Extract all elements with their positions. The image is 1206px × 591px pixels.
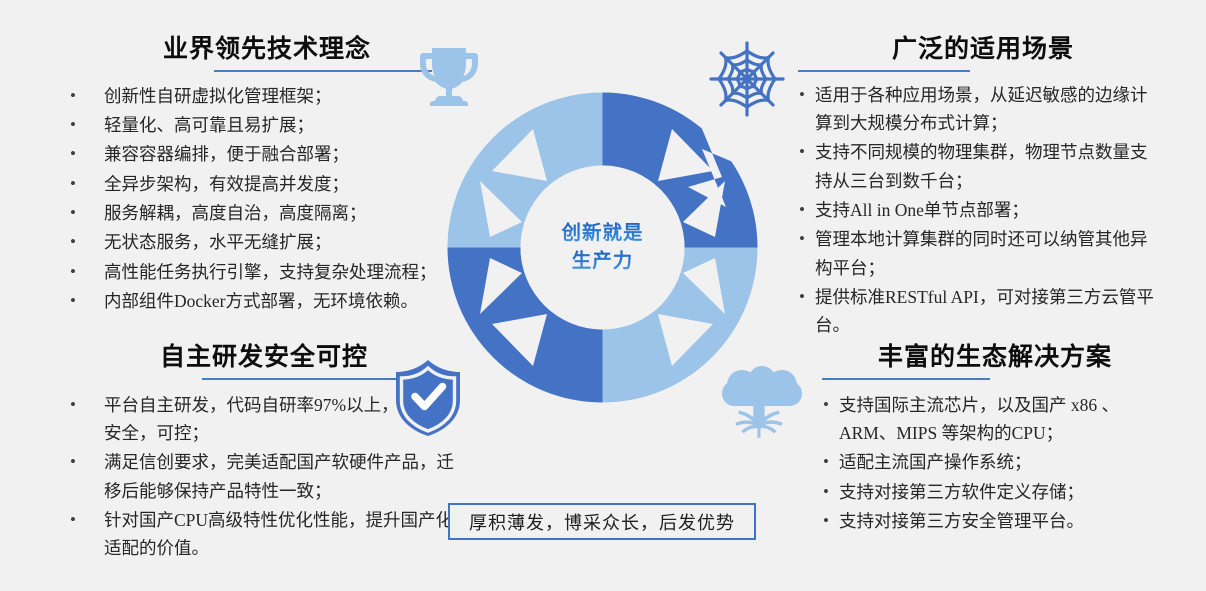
tagline-text: 厚积薄发，博采众长，后发优势	[469, 509, 735, 535]
spider-web-icon	[708, 40, 786, 123]
section-bottom-right: 丰富的生态解决方案 •支持国际主流芯片，以及国产 x86 、ARM、MIPS 等…	[798, 344, 1168, 536]
list-item-text: 支持对接第三方安全管理平台。	[839, 507, 1168, 535]
trophy-icon	[418, 44, 480, 119]
list-item: •轻量化、高可靠且易扩展；	[62, 111, 462, 139]
bullet-marker-icon: •	[70, 258, 76, 286]
list-item: •支持对接第三方安全管理平台。	[822, 507, 1168, 535]
list-item-text: 服务解耦，高度自治，高度隔离；	[104, 199, 462, 227]
section-title-top-left: 业界领先技术理念	[62, 36, 462, 64]
bullet-marker-icon: •	[70, 82, 76, 110]
bullet-marker-icon: •	[823, 448, 829, 476]
list-item: •提供标准RESTful API，可对接第三方云管平台。	[798, 283, 1158, 340]
tree-icon	[722, 364, 802, 445]
donut-hole	[521, 166, 685, 330]
bullet-marker-icon: •	[799, 283, 805, 311]
central-donut-diagram: 创新就是 生产力	[440, 85, 765, 410]
bullet-marker-icon: •	[799, 81, 805, 109]
bullet-marker-icon: •	[799, 196, 805, 224]
bullet-marker-icon: •	[70, 140, 76, 168]
list-item-text: 支持国际主流芯片，以及国产 x86 、ARM、MIPS 等架构的CPU；	[839, 391, 1168, 448]
list-item: •高性能任务执行引擎，支持复杂处理流程；	[62, 258, 462, 286]
title-underline-bottom-left	[202, 378, 414, 380]
bullet-marker-icon: •	[70, 170, 76, 198]
list-item-text: 创新性自研虚拟化管理框架；	[104, 82, 462, 110]
list-item-text: 适用于各种应用场景，从延迟敏感的边缘计算到大规模分布式计算；	[815, 81, 1158, 138]
list-item-text: 提供标准RESTful API，可对接第三方云管平台。	[815, 283, 1158, 340]
list-item: •支持对接第三方软件定义存储；	[822, 478, 1168, 506]
list-item-text: 支持对接第三方软件定义存储；	[839, 478, 1168, 506]
list-item: •无状态服务，水平无缝扩展；	[62, 228, 462, 256]
list-item-text: 支持All in One单节点部署；	[815, 196, 1158, 224]
bullet-marker-icon: •	[70, 391, 76, 419]
list-item: •全异步架构，有效提高并发度；	[62, 170, 462, 198]
bullet-marker-icon: •	[70, 199, 76, 227]
list-item-text: 管理本地计算集群的同时还可以纳管其他异构平台；	[815, 225, 1158, 282]
bullet-marker-icon: •	[70, 228, 76, 256]
section-title-top-right: 广泛的适用场景	[798, 36, 1158, 64]
shield-check-icon	[392, 358, 464, 443]
bullet-marker-icon: •	[70, 111, 76, 139]
list-item-text: 支持不同规模的物理集群，物理节点数量支持从三台到数千台；	[815, 138, 1158, 195]
slide-canvas: 业界领先技术理念 •创新性自研虚拟化管理框架；•轻量化、高可靠且易扩展；•兼容容…	[0, 0, 1206, 591]
list-item: •适用于各种应用场景，从延迟敏感的边缘计算到大规模分布式计算；	[798, 81, 1158, 138]
bullet-list-top-right: •适用于各种应用场景，从延迟敏感的边缘计算到大规模分布式计算；•支持不同规模的物…	[798, 81, 1158, 340]
section-top-right: 广泛的适用场景 •适用于各种应用场景，从延迟敏感的边缘计算到大规模分布式计算；•…	[798, 36, 1158, 341]
section-title-bottom-right: 丰富的生态解决方案	[798, 344, 1168, 372]
bullet-marker-icon: •	[823, 478, 829, 506]
list-item-text: 适配主流国产操作系统；	[839, 448, 1168, 476]
list-item: •适配主流国产操作系统；	[822, 448, 1168, 476]
tagline-banner: 厚积薄发，博采众长，后发优势	[448, 503, 756, 540]
list-item: •内部组件Docker方式部署，无环境依赖。	[62, 287, 462, 315]
bullet-marker-icon: •	[70, 287, 76, 315]
title-underline-bottom-right	[822, 378, 990, 380]
bullet-marker-icon: •	[799, 138, 805, 166]
section-top-left: 业界领先技术理念 •创新性自研虚拟化管理框架；•轻量化、高可靠且易扩展；•兼容容…	[62, 36, 462, 316]
bullet-marker-icon: •	[70, 506, 76, 534]
bullet-marker-icon: •	[823, 391, 829, 419]
list-item: •支持不同规模的物理集群，物理节点数量支持从三台到数千台；	[798, 138, 1158, 195]
bullet-marker-icon: •	[823, 507, 829, 535]
list-item: •创新性自研虚拟化管理框架；	[62, 82, 462, 110]
list-item: •服务解耦，高度自治，高度隔离；	[62, 199, 462, 227]
list-item-text: 轻量化、高可靠且易扩展；	[104, 111, 462, 139]
list-item: •兼容容器编排，便于融合部署；	[62, 140, 462, 168]
list-item: •针对国产CPU高级特性优化性能，提升国产化适配的价值。	[62, 506, 462, 563]
list-item-text: 针对国产CPU高级特性优化性能，提升国产化适配的价值。	[104, 506, 462, 563]
title-underline-top-left	[214, 70, 432, 72]
bullet-marker-icon: •	[70, 448, 76, 476]
list-item: •管理本地计算集群的同时还可以纳管其他异构平台；	[798, 225, 1158, 282]
list-item-text: 高性能任务执行引擎，支持复杂处理流程；	[104, 258, 462, 286]
list-item-text: 内部组件Docker方式部署，无环境依赖。	[104, 287, 462, 315]
list-item-text: 无状态服务，水平无缝扩展；	[104, 228, 462, 256]
list-item: •满足信创要求，完美适配国产软硬件产品，迁移后能够保持产品特性一致；	[62, 448, 462, 505]
list-item-text: 全异步架构，有效提高并发度；	[104, 170, 462, 198]
bullet-marker-icon: •	[799, 225, 805, 253]
bullet-list-top-left: •创新性自研虚拟化管理框架；•轻量化、高可靠且易扩展；•兼容容器编排，便于融合部…	[62, 82, 462, 316]
list-item: •支持国际主流芯片，以及国产 x86 、ARM、MIPS 等架构的CPU；	[822, 391, 1168, 448]
list-item-text: 满足信创要求，完美适配国产软硬件产品，迁移后能够保持产品特性一致；	[104, 448, 462, 505]
list-item-text: 兼容容器编排，便于融合部署；	[104, 140, 462, 168]
title-underline-top-right	[798, 70, 970, 72]
bullet-list-bottom-right: •支持国际主流芯片，以及国产 x86 、ARM、MIPS 等架构的CPU；•适配…	[798, 391, 1168, 536]
list-item: •支持All in One单节点部署；	[798, 196, 1158, 224]
